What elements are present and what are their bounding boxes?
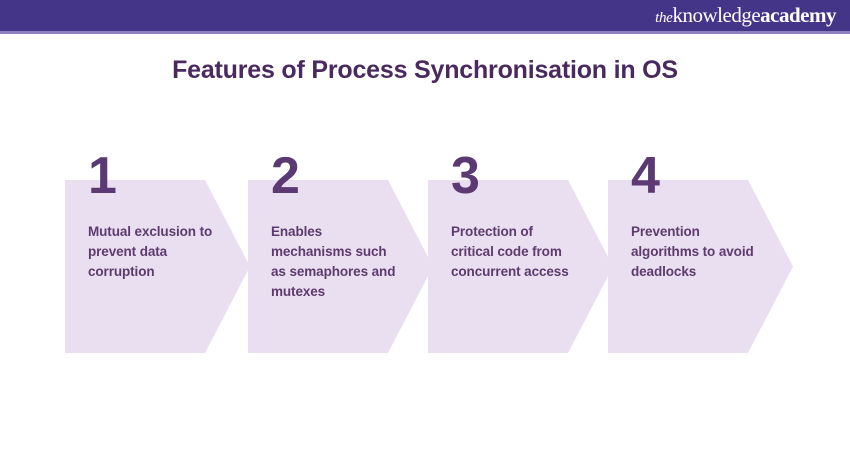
- header-bar: theknowledgeacademy: [0, 0, 850, 31]
- the-knowledge-academy-logo[interactable]: theknowledgeacademy: [655, 5, 836, 26]
- feature-step-2[interactable]: 2 Enables mechanisms such as semaphores …: [248, 150, 433, 353]
- page-title: Features of Process Synchronisation in O…: [0, 56, 850, 85]
- step-description-1: Mutual exclusion to prevent data corrupt…: [88, 222, 213, 282]
- step-number-2: 2: [271, 150, 299, 202]
- step-description-4: Prevention algorithms to avoid deadlocks: [631, 222, 756, 282]
- logo-text-academy: academy: [760, 5, 836, 26]
- step-number-4: 4: [631, 150, 659, 202]
- feature-step-3[interactable]: 3 Protection of critical code from concu…: [428, 150, 613, 353]
- features-chevron-row: 1 Mutual exclusion to prevent data corru…: [0, 150, 850, 360]
- logo-text-the: the: [655, 11, 672, 26]
- header-underline-divider: [0, 31, 850, 34]
- step-number-1: 1: [88, 150, 116, 202]
- feature-step-4[interactable]: 4 Prevention algorithms to avoid deadloc…: [608, 150, 793, 353]
- step-number-3: 3: [451, 150, 479, 202]
- step-description-3: Protection of critical code from concurr…: [451, 222, 576, 282]
- logo-text-knowledge: knowledge: [673, 5, 761, 26]
- step-description-2: Enables mechanisms such as semaphores an…: [271, 222, 396, 302]
- feature-step-1[interactable]: 1 Mutual exclusion to prevent data corru…: [65, 150, 250, 353]
